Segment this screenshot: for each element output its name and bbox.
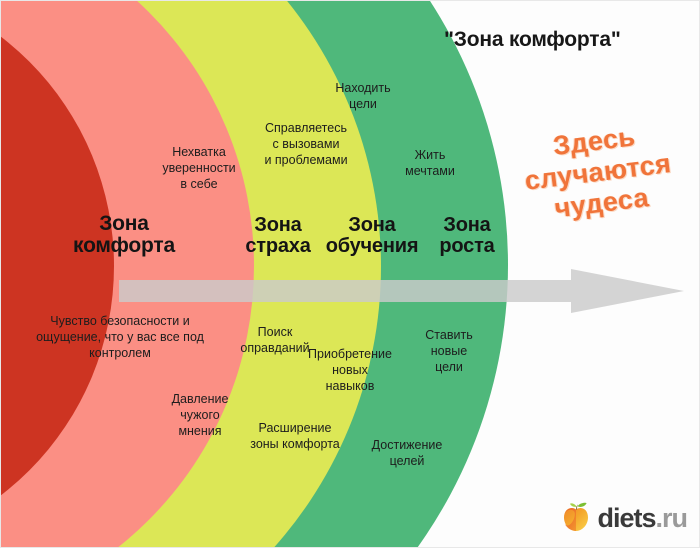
item-achieve-goals: Достижение целей [358,438,456,470]
item-comfort-security: Чувство безопасности и ощущение, что у в… [11,314,229,361]
page-title: "Зона комфорта" [444,28,621,52]
item-peer-pressure: Давление чужого мнения [157,392,243,439]
miracles-slogan: Здесь случаются чудеса [498,115,698,230]
item-new-skills: Приобретение новых навыков [304,347,396,394]
item-set-new-goals: Ставить новые цели [413,328,485,375]
item-live-dreams: Жить мечтами [394,148,466,180]
zone-label-comfort: Зона комфорта [49,213,199,257]
item-expanding-comfort-zone: Расширение зоны комфорта [240,421,350,453]
item-find-goals: Находить цели [321,81,405,113]
zone-label-growth: Зона роста [425,215,509,257]
watermark-site-name: diets [597,503,655,533]
watermark-site-tld: .ru [655,503,687,533]
progress-arrow-icon [119,269,684,313]
infographic-canvas: Чувство безопасности и ощущение, что у в… [0,0,700,548]
item-handling-challenges: Справляетесь с вызовами и проблемами [251,121,361,168]
zone-label-learning: Зона обучения [317,215,427,257]
item-lack-of-confidence: Нехватка уверенности в себе [151,145,247,192]
zone-label-fear: Зона страха [235,215,321,257]
apple-logo-icon [561,500,591,537]
watermark: diets.ru [561,500,687,537]
